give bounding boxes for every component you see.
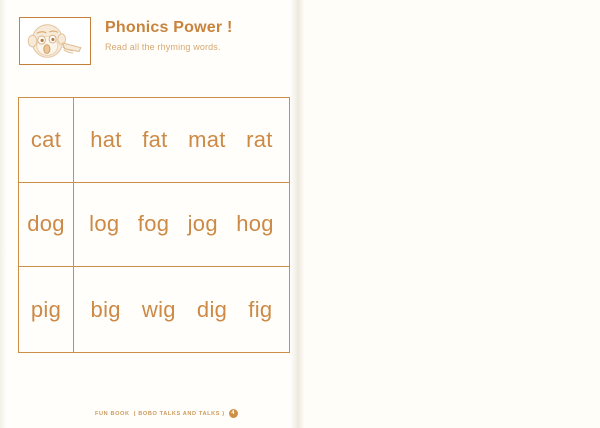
- word-label: log: [89, 213, 119, 235]
- word-label: big: [91, 299, 121, 321]
- word-label: dig: [197, 299, 227, 321]
- word-label: wig: [142, 299, 176, 321]
- page-title: Phonics Power !: [105, 19, 232, 37]
- word-row: dog log fog jog hog: [19, 183, 289, 268]
- word-label: hog: [236, 213, 274, 235]
- word-label: cat: [31, 129, 61, 151]
- word-label: jog: [188, 213, 218, 235]
- word-label: fog: [138, 213, 169, 235]
- word-label: dog: [27, 213, 65, 235]
- word-cell: dog: [19, 183, 74, 267]
- word-label: pig: [31, 299, 61, 321]
- right-page: Match them up ! Connect the words to the…: [297, 0, 600, 428]
- word-row: cat hat fat mat rat: [19, 98, 289, 183]
- word-label: fig: [248, 299, 272, 321]
- left-page-footer: FUN BOOK ( BOBO TALKS AND TALKS ) 4: [95, 409, 238, 418]
- footer-series: ( BOBO TALKS AND TALKS ): [134, 411, 225, 417]
- monkey-pointing-icon: [19, 17, 91, 65]
- word-cell-group: hat fat mat rat: [74, 129, 289, 151]
- word-cell: pig: [19, 267, 74, 352]
- word-label: fat: [142, 129, 167, 151]
- word-label: mat: [188, 129, 226, 151]
- left-page-header: Phonics Power ! Read all the rhyming wor…: [19, 17, 279, 65]
- page-edge-shadow: [0, 0, 7, 428]
- rhyming-word-grid: cat hat fat mat rat dog log fog jog hog: [18, 97, 290, 353]
- word-label: rat: [246, 129, 273, 151]
- word-cell-group: log fog jog hog: [74, 213, 289, 235]
- word-cell: cat: [19, 98, 74, 182]
- footer-book-title: FUN BOOK: [95, 411, 130, 417]
- left-header-text: Phonics Power ! Read all the rhyming wor…: [105, 17, 232, 52]
- left-page: Phonics Power ! Read all the rhyming wor…: [0, 0, 297, 428]
- word-label: hat: [90, 129, 121, 151]
- page-subtitle: Read all the rhyming words.: [105, 42, 232, 52]
- word-cell-group: big wig dig fig: [74, 299, 289, 321]
- worksheet-spread: Phonics Power ! Read all the rhyming wor…: [0, 0, 600, 428]
- word-row: pig big wig dig fig: [19, 267, 289, 352]
- page-number-badge: 4: [229, 409, 238, 418]
